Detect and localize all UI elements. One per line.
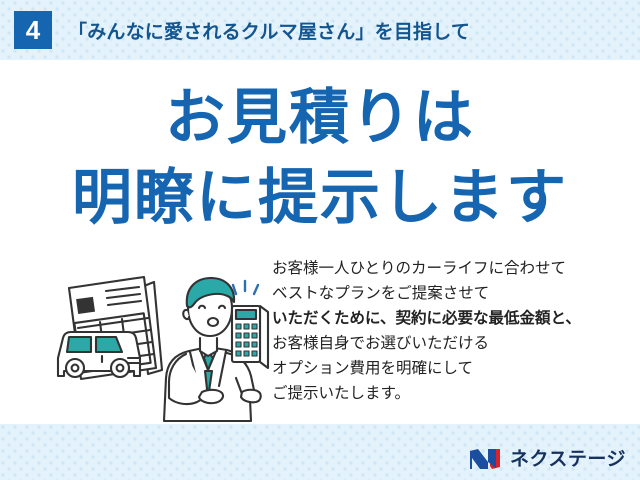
promo-banner: 4 「みんなに愛されるクルマ屋さん」を目指して お見積りは 明瞭に提示します お… — [0, 0, 640, 480]
brand-logo: ネクステージ — [469, 446, 626, 472]
header: 4 「みんなに愛されるクルマ屋さん」を目指して — [0, 0, 640, 60]
nextage-n-mark-icon — [469, 447, 503, 471]
sparkle-icon — [233, 281, 258, 294]
body-copy: お客様一人ひとりのカーライフに合わせて ベストなプランをご提案させて いただくた… — [272, 256, 632, 406]
brand-name: ネクステージ — [510, 450, 626, 469]
body-copy-line: お客様自身でお選びいただける — [272, 331, 632, 356]
body-copy-line-emphasis: いただくために、契約に必要な最低金額と、 — [272, 306, 632, 331]
headline-line-1: お見積りは — [0, 88, 640, 148]
header-title: 「みんなに愛されるクルマ屋さん」を目指して — [68, 17, 470, 44]
section-number-badge: 4 — [14, 11, 52, 49]
headline-line-2: 明瞭に提示します — [0, 168, 640, 228]
body-copy-line: お客様一人ひとりのカーライフに合わせて — [272, 256, 632, 281]
calculator — [232, 306, 268, 368]
body-copy-line: ベストなプランをご提案させて — [272, 281, 632, 306]
illustration-svg — [36, 258, 274, 423]
illustration — [36, 258, 274, 423]
body-copy-line: オプション費用を明確にして — [272, 356, 632, 381]
van-vehicle — [58, 332, 140, 377]
body-copy-line: ご提示いたします。 — [272, 381, 632, 406]
